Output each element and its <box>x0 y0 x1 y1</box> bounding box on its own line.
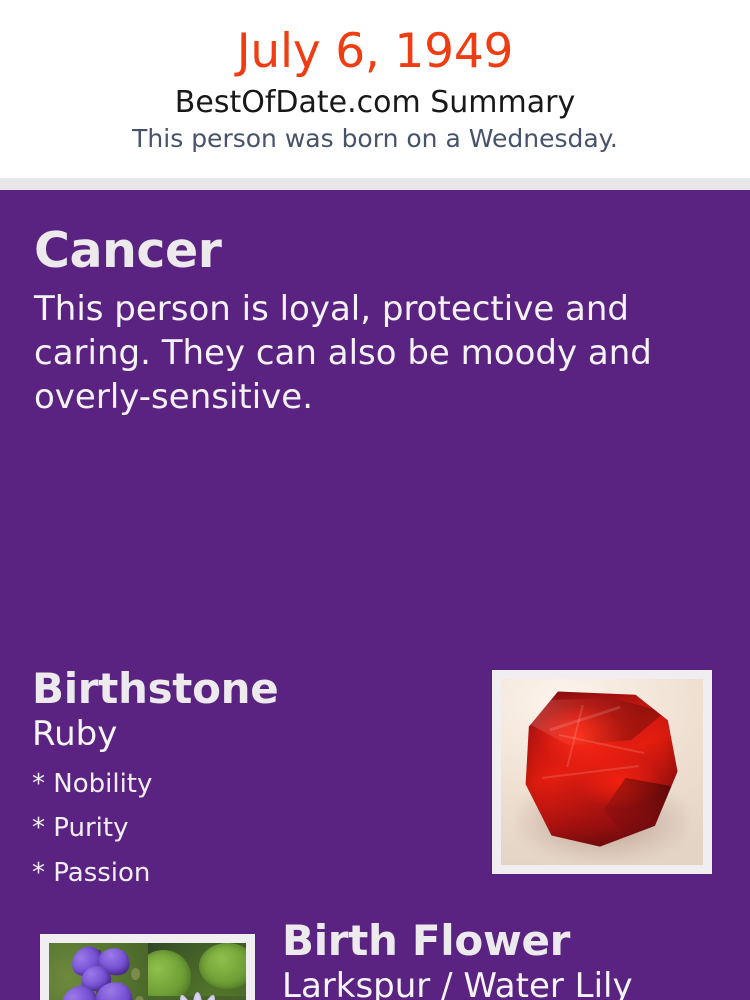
ruby-facet <box>550 706 622 732</box>
ruby-facet <box>542 766 638 780</box>
summary-panel: Cancer This person is loyal, protective … <box>0 190 750 1000</box>
birthstone-section: Birthstone Ruby * Nobility * Purity * Pa… <box>0 660 750 900</box>
birthstone-text-block: Birthstone Ruby * Nobility * Purity * Pa… <box>32 668 472 896</box>
list-item: * Nobility <box>32 762 472 807</box>
birthstone-image-frame <box>492 670 712 874</box>
birthstone-heading: Birthstone <box>32 668 472 711</box>
page-header: July 6, 1949 BestOfDate.com Summary This… <box>0 0 750 178</box>
larkspur-and-water-lily-photo <box>49 943 246 1000</box>
zodiac-section: Cancer This person is loyal, protective … <box>0 190 750 420</box>
birthstone-value: Ruby <box>32 715 472 754</box>
water-lily-photo <box>148 943 247 1000</box>
header-divider <box>0 178 750 190</box>
larkspur-bud <box>135 996 144 1000</box>
zodiac-description: This person is loyal, protective and car… <box>34 287 674 420</box>
ruby-crystal-photo <box>501 679 703 865</box>
lily-petal <box>192 992 203 1000</box>
birth-flower-section: Birth Flower Larkspur / Water Lily * Pos… <box>0 924 750 1000</box>
water-lily-bloom-icon <box>163 968 232 1000</box>
list-item: * Purity <box>32 806 472 851</box>
list-item: * Passion <box>32 851 472 896</box>
birth-flower-text-block: Birth Flower Larkspur / Water Lily * Pos… <box>282 920 732 1000</box>
larkspur-bud <box>131 968 140 980</box>
zodiac-sign-name: Cancer <box>34 226 716 275</box>
site-summary-subtitle: BestOfDate.com Summary <box>0 85 750 122</box>
page-title-date: July 6, 1949 <box>0 26 750 79</box>
birthstone-trait-list: * Nobility * Purity * Passion <box>32 762 472 896</box>
birth-flower-image-frame <box>40 934 255 1000</box>
larkspur-photo <box>49 943 148 1000</box>
born-day-line: This person was born on a Wednesday. <box>0 124 750 155</box>
birth-flower-value: Larkspur / Water Lily <box>282 967 732 1000</box>
birth-flower-heading: Birth Flower <box>282 920 732 963</box>
ruby-scene <box>501 679 703 865</box>
